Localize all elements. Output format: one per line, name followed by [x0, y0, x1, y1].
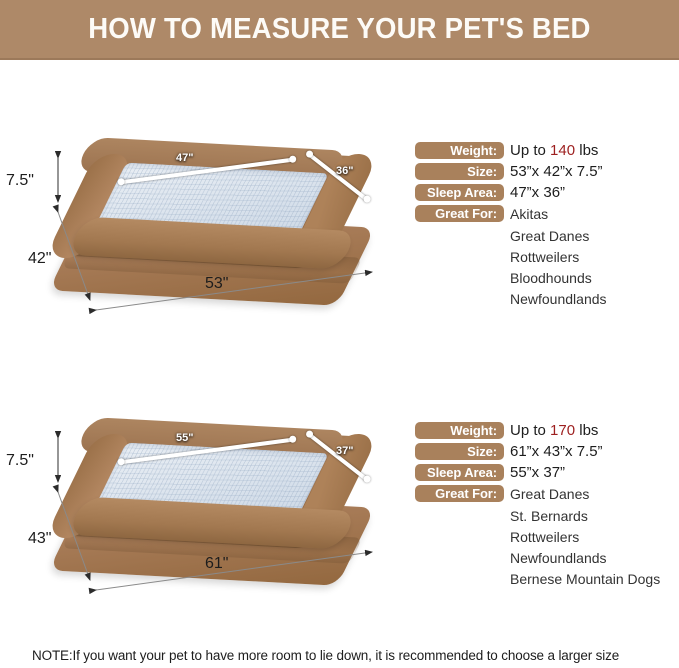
breed-list-xlarge: St. Bernards Rottweilers Newfoundlands B… [510, 506, 679, 590]
spec-row-sleep-area: Sleep Area: 55”x 37” [415, 464, 679, 485]
bed-depth-dim-label: 43" [28, 530, 51, 548]
size-label-badge: Size: [415, 163, 504, 180]
bed-height-dim-label: 7.5" [6, 452, 34, 470]
spec-row-great-for: Great For: Great Danes [415, 485, 679, 506]
breed-item: Bloodhounds [510, 268, 679, 289]
page-header-banner: HOW TO MEASURE YOUR PET'S BED [0, 0, 679, 60]
weight-number: 170 [550, 422, 575, 439]
bed-width-dim-label: 61" [205, 555, 228, 573]
breed-item: Akitas [510, 205, 548, 223]
spec-row-weight: Weight: Up to 170 lbs [415, 422, 679, 443]
dimension-arrows [0, 120, 410, 350]
weight-prefix: Up to [510, 142, 550, 159]
weight-suffix: lbs [575, 142, 598, 159]
weight-label-badge: Weight: [415, 422, 504, 439]
bed-depth-dim-label: 42" [28, 250, 51, 268]
weight-label-badge: Weight: [415, 142, 504, 159]
spec-panel-xlarge: Weight: Up to 170 lbs Size: 61”x 43”x 7.… [415, 422, 679, 590]
breed-item: Newfoundlands [510, 289, 679, 310]
breed-item: Rottweilers [510, 247, 679, 268]
weight-value: Up to 140 lbs [510, 142, 598, 160]
product-section-large: 47" 36" 7.5" 42" 53" Weigh [0, 120, 679, 350]
great-for-label-badge: Great For: [415, 485, 504, 502]
spec-row-great-for: Great For: Akitas [415, 205, 679, 226]
dimension-arrows [0, 400, 410, 630]
weight-value: Up to 170 lbs [510, 422, 598, 440]
product-section-xlarge: 55" 37" 7.5" 43" 61" Weight: Up to 170 l… [0, 400, 679, 630]
weight-prefix: Up to [510, 422, 550, 439]
spec-panel-large: Weight: Up to 140 lbs Size: 53”x 42”x 7.… [415, 142, 679, 310]
footer-note: NOTE:If you want your pet to have more r… [32, 648, 619, 663]
breed-item: Great Danes [510, 226, 679, 247]
bed-height-dim-label: 7.5" [6, 172, 34, 190]
breed-item: Bernese Mountain Dogs [510, 569, 679, 590]
breed-item: Great Danes [510, 485, 589, 503]
weight-suffix: lbs [575, 422, 598, 439]
size-value: 53”x 42”x 7.5” [510, 163, 603, 181]
bed-width-dim-label: 53" [205, 275, 228, 293]
size-label-badge: Size: [415, 443, 504, 460]
breed-item: Newfoundlands [510, 548, 679, 569]
spec-row-sleep-area: Sleep Area: 47”x 36” [415, 184, 679, 205]
breed-item: St. Bernards [510, 506, 679, 527]
breed-list-large: Great Danes Rottweilers Bloodhounds Newf… [510, 226, 679, 310]
weight-number: 140 [550, 142, 575, 159]
size-value: 61”x 43”x 7.5” [510, 443, 603, 461]
spec-row-weight: Weight: Up to 140 lbs [415, 142, 679, 163]
page-title: HOW TO MEASURE YOUR PET'S BED [88, 13, 590, 46]
spec-row-size: Size: 53”x 42”x 7.5” [415, 163, 679, 184]
bed-illustration-large: 47" 36" 7.5" 42" 53" [0, 120, 410, 350]
sleep-area-label-badge: Sleep Area: [415, 464, 504, 481]
bed-illustration-xlarge: 55" 37" 7.5" 43" 61" [0, 400, 410, 630]
spec-row-size: Size: 61”x 43”x 7.5” [415, 443, 679, 464]
sleep-area-label-badge: Sleep Area: [415, 184, 504, 201]
breed-item: Rottweilers [510, 527, 679, 548]
sleep-area-value: 47”x 36” [510, 184, 565, 202]
sleep-area-value: 55”x 37” [510, 464, 565, 482]
great-for-label-badge: Great For: [415, 205, 504, 222]
